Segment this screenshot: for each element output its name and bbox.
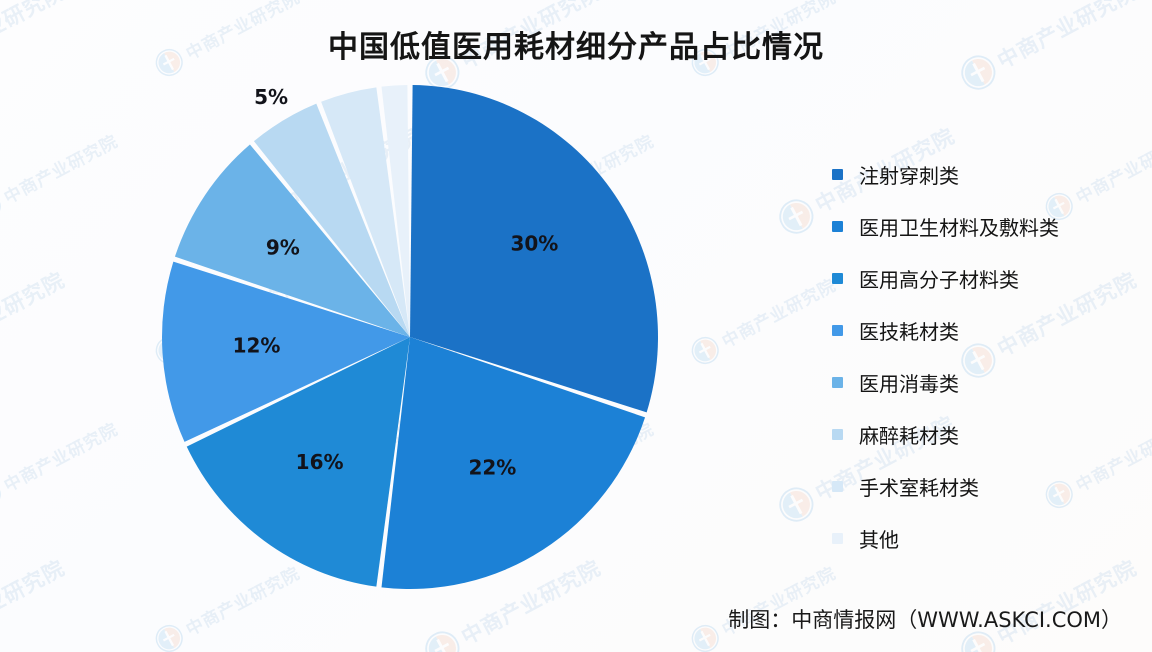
legend-swatch-icon [832, 533, 843, 544]
legend-item-label: 麻醉耗材类 [859, 420, 959, 449]
legend-item-label: 其他 [859, 524, 899, 553]
zhongshang-logo-icon [687, 332, 724, 369]
watermark: 中商产业研究院 [0, 414, 122, 512]
legend-item[interactable]: 医用高分子材料类 [832, 252, 1132, 304]
watermark-text: 中商产业研究院 [992, 552, 1142, 651]
watermark: 中商产业研究院 [0, 126, 122, 224]
watermark-text: 中商产业研究院 [0, 127, 122, 208]
legend-item-label: 医用卫生材料及敷料类 [859, 212, 1059, 241]
legend-item[interactable]: 麻醉耗材类 [832, 408, 1132, 460]
watermark-text: 中商产业研究院 [0, 552, 70, 651]
legend-item-label: 注射穿刺类 [859, 160, 959, 189]
watermark-text: 中商产业研究院 [0, 264, 70, 363]
zhongshang-logo-icon [419, 626, 465, 652]
watermark: 中商产业研究院 [687, 270, 840, 368]
legend-item[interactable]: 手术室耗材类 [832, 460, 1132, 512]
legend-swatch-icon [832, 429, 843, 440]
legend-item[interactable]: 其他 [832, 512, 1132, 564]
pie-slice-label: 22% [468, 455, 516, 479]
watermark-text: 中商产业研究院 [0, 415, 122, 496]
zhongshang-logo-icon [151, 620, 188, 652]
pie-slice-label: 9% [266, 236, 300, 260]
pie-chart-svg: 30%22%16%12%9%5%4%2% [130, 82, 690, 592]
legend-item[interactable]: 医技耗材类 [832, 304, 1132, 356]
watermark-text: 中商产业研究院 [717, 271, 840, 352]
watermark: 中商产业研究院 [0, 550, 71, 652]
legend-item-label: 医用高分子材料类 [859, 264, 1019, 293]
legend-item-label: 医技耗材类 [859, 316, 959, 345]
legend-swatch-icon [832, 325, 843, 336]
pie-slice-label: 12% [233, 333, 281, 357]
pie-slice-label: 5% [254, 85, 288, 109]
watermark: 中商产业研究院 [955, 550, 1142, 652]
zhongshang-logo-icon [773, 194, 819, 240]
pie-chart: 30%22%16%12%9%5%4%2% [130, 82, 690, 592]
legend-swatch-icon [832, 221, 843, 232]
legend-swatch-icon [832, 273, 843, 284]
zhongshang-logo-icon [0, 188, 5, 225]
legend-item[interactable]: 医用消毒类 [832, 356, 1132, 408]
legend-item-label: 手术室耗材类 [859, 472, 979, 501]
legend-item[interactable]: 医用卫生材料及敷料类 [832, 200, 1132, 252]
watermark: 中商产业研究院 [0, 262, 71, 383]
legend-swatch-icon [832, 377, 843, 388]
footer-credit: 制图：中商情报网（WWW.ASKCI.COM） [728, 604, 1122, 634]
zhongshang-logo-icon [773, 482, 819, 528]
chart-page: 中商产业研究院中商产业研究院中商产业研究院中商产业研究院中商产业研究院中商产业研… [0, 0, 1152, 652]
page-title: 中国低值医用耗材细分产品占比情况 [0, 22, 1152, 66]
zhongshang-logo-icon [0, 476, 5, 513]
chart-legend: 注射穿刺类医用卫生材料及敷料类医用高分子材料类医技耗材类医用消毒类麻醉耗材类手术… [832, 148, 1132, 564]
legend-swatch-icon [832, 169, 843, 180]
pie-slice-label: 30% [510, 232, 558, 256]
pie-slice-label: 16% [296, 450, 344, 474]
legend-swatch-icon [832, 481, 843, 492]
legend-item[interactable]: 注射穿刺类 [832, 148, 1132, 200]
legend-item-label: 医用消毒类 [859, 368, 959, 397]
zhongshang-logo-icon [687, 620, 724, 652]
